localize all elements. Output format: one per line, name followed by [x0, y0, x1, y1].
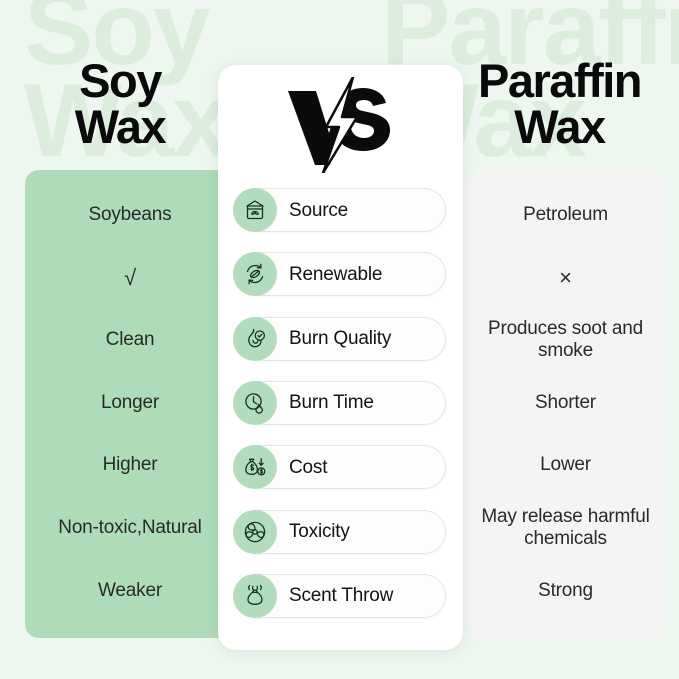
- criteria-pill-cost[interactable]: Cost: [235, 445, 446, 489]
- criteria-label-cost: Cost: [289, 458, 327, 477]
- criteria-label-source: Source: [289, 201, 348, 220]
- paraffin-value-cost-text: Lower: [540, 454, 591, 476]
- soy-value-cost-text: Higher: [103, 454, 158, 476]
- paraffin-value-scent-throw-text: Strong: [538, 580, 593, 602]
- criteria-pill-burn-quality[interactable]: Burn Quality: [235, 317, 446, 361]
- paraffin-wax-title: Paraffin Wax: [440, 58, 679, 150]
- soy-value-renewable: √: [31, 247, 229, 310]
- flame-check-icon: [233, 317, 277, 361]
- paraffin-value-burn-quality: Produces soot and smoke: [472, 309, 659, 372]
- criteria-row: Burn Time: [218, 371, 463, 435]
- check-mark-icon: √: [124, 265, 136, 291]
- biohazard-icon: [233, 510, 277, 554]
- criteria-pill-scent-throw[interactable]: Scent Throw: [235, 574, 446, 618]
- paraffin-value-source: Petroleum: [472, 184, 659, 247]
- criteria-row: Cost: [218, 435, 463, 499]
- clock-flame-icon: [233, 381, 277, 425]
- soy-value-scent-throw-text: Weaker: [98, 580, 162, 602]
- criteria-pill-toxicity[interactable]: Toxicity: [235, 510, 446, 554]
- criteria-pill-burn-time[interactable]: Burn Time: [235, 381, 446, 425]
- criteria-row: Renewable: [218, 242, 463, 306]
- recycle-leaf-icon: [233, 252, 277, 296]
- criteria-pill-list: Source Renew: [218, 170, 463, 640]
- soy-value-toxicity-text: Non-toxic,Natural: [58, 517, 201, 539]
- paraffin-wax-title-line2: Wax: [440, 104, 679, 150]
- cross-mark-icon: ×: [559, 265, 572, 291]
- vs-logo-icon: [218, 75, 463, 175]
- infographic-canvas: Soy Wax Paraffin Wax Soy Wax Paraffin Wa…: [0, 0, 679, 679]
- soy-value-source-text: Soybeans: [89, 204, 172, 226]
- soy-value-cost: Higher: [31, 434, 229, 497]
- comparison-criteria-card: Source Renew: [218, 65, 463, 650]
- criteria-label-renewable: Renewable: [289, 265, 382, 284]
- paraffin-value-burn-quality-text: Produces soot and smoke: [478, 318, 653, 363]
- paraffin-value-source-text: Petroleum: [523, 204, 608, 226]
- paraffin-wax-title-line1: Paraffin: [440, 58, 679, 104]
- paraffin-value-toxicity-text: May release harmful chemicals: [478, 506, 653, 551]
- paraffin-value-toxicity: May release harmful chemicals: [472, 497, 659, 560]
- criteria-label-burn-time: Burn Time: [289, 393, 374, 412]
- soy-value-burn-time-text: Longer: [101, 392, 159, 414]
- soy-value-source: Soybeans: [31, 184, 229, 247]
- criteria-label-scent-throw: Scent Throw: [289, 586, 393, 605]
- soy-wax-title-line2: Wax: [0, 104, 240, 150]
- soy-wax-values-panel: Soybeans √ Clean Longer Higher Non-toxic…: [25, 170, 235, 638]
- criteria-label-toxicity: Toxicity: [289, 522, 350, 541]
- soy-wax-title: Soy Wax: [0, 58, 240, 150]
- soy-value-burn-time: Longer: [31, 372, 229, 435]
- paraffin-value-cost: Lower: [472, 434, 659, 497]
- paraffin-value-burn-time-text: Shorter: [535, 392, 596, 414]
- paraffin-value-scent-throw: Strong: [472, 559, 659, 622]
- money-bag-icon: [233, 445, 277, 489]
- criteria-pill-source[interactable]: Source: [235, 188, 446, 232]
- criteria-label-burn-quality: Burn Quality: [289, 329, 391, 348]
- scent-sachet-icon: [233, 574, 277, 618]
- soy-value-burn-quality: Clean: [31, 309, 229, 372]
- soy-value-scent-throw: Weaker: [31, 559, 229, 622]
- paraffin-wax-values-panel: Petroleum × Produces soot and smoke Shor…: [466, 170, 665, 638]
- paraffin-value-burn-time: Shorter: [472, 372, 659, 435]
- soy-wax-title-line1: Soy: [0, 58, 240, 104]
- sack-of-beans-icon: [233, 188, 277, 232]
- soy-value-toxicity: Non-toxic,Natural: [31, 497, 229, 560]
- paraffin-value-renewable: ×: [472, 247, 659, 310]
- criteria-row: Scent Throw: [218, 564, 463, 628]
- criteria-row: Toxicity: [218, 499, 463, 563]
- criteria-row: Burn Quality: [218, 307, 463, 371]
- criteria-pill-renewable[interactable]: Renewable: [235, 252, 446, 296]
- soy-value-burn-quality-text: Clean: [106, 329, 155, 351]
- criteria-row: Source: [218, 178, 463, 242]
